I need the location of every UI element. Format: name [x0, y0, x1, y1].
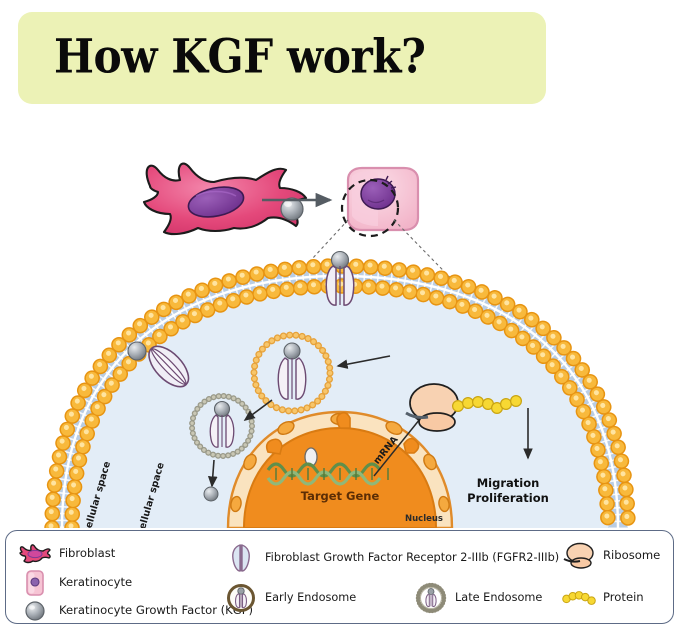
legend-label-fgfr2: Fibroblast Growth Factor Receptor 2-IIIb…	[265, 552, 559, 563]
title-banner: How KGF work?	[18, 12, 546, 104]
legend-column-3: Ribosome Protein	[562, 531, 677, 623]
early-endosome-vesicle	[254, 335, 330, 411]
svg-text:Migration: Migration	[477, 476, 540, 490]
legend-item-fibroblast: Fibroblast	[18, 539, 115, 569]
ribosome-icon	[562, 541, 596, 571]
target-gene-label: Target Gene	[301, 489, 380, 503]
legend-column-1: Fibroblast Keratinocyte	[18, 531, 233, 623]
legend-label-late-endosome: Late Endosome	[455, 592, 542, 603]
outcome-label: Migration Proliferation	[467, 476, 549, 505]
legend-item-fgfr2: Fibroblast Growth Factor Receptor 2-IIIb…	[224, 543, 559, 573]
legend-item-keratinocyte: Keratinocyte	[18, 568, 132, 598]
legend-panel: Fibroblast Keratinocyte	[5, 530, 674, 624]
svg-text:Proliferation: Proliferation	[467, 491, 549, 505]
legend-label-early-endosome: Early Endosome	[265, 592, 356, 603]
keratinocyte-cell	[342, 168, 418, 236]
legend-label-keratinocyte: Keratinocyte	[59, 577, 132, 589]
legend-label-ribosome: Ribosome	[603, 550, 660, 562]
legend-item-ribosome: Ribosome	[562, 541, 660, 571]
early-endosome-icon	[224, 583, 258, 613]
legend-item-late-endosome: Late Endosome	[414, 583, 542, 613]
legend-item-protein: Protein	[562, 583, 644, 613]
legend-column-2: Fibroblast Growth Factor Receptor 2-IIIb…	[224, 531, 569, 623]
page-title: How KGF work?	[54, 29, 425, 84]
late-endosome-icon	[414, 583, 448, 613]
legend-label-fibroblast: Fibroblast	[59, 548, 115, 560]
legend-item-early-endosome: Early Endosome	[224, 583, 356, 613]
keratinocyte-icon	[18, 568, 52, 598]
fibroblast-icon	[18, 539, 52, 569]
protein-icon	[562, 583, 596, 613]
kgf-pathway-diagram: Target Gene Nucleus mRNA	[0, 108, 679, 528]
fgfr2-receptor-icon	[224, 543, 258, 573]
page-root: How KGF work?	[0, 0, 679, 630]
legend-item-kgf: Keratinocyte Growth Factor (KGF)	[18, 596, 253, 626]
kgf-icon	[18, 596, 52, 626]
nucleus-label: Nucleus	[405, 514, 443, 524]
kgf-molecule-transfer	[281, 198, 303, 220]
legend-label-protein: Protein	[603, 592, 644, 604]
